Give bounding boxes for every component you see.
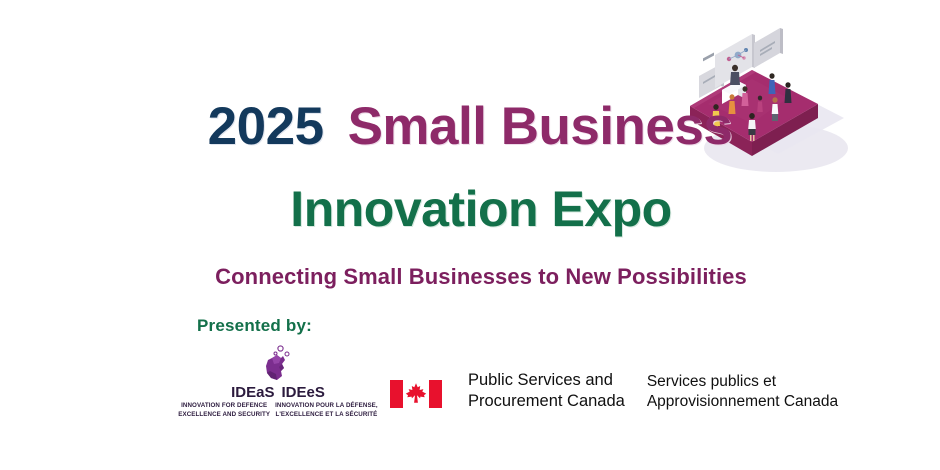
sponsor-logo-row: IDEaS IDEeS INNOVATION FOR DEFENCE EXCEL… xyxy=(178,344,838,420)
canada-flag-wrap xyxy=(390,380,442,408)
ideas-tagline-en: INNOVATION FOR DEFENCE EXCELLENCE AND SE… xyxy=(178,402,270,420)
flag-bar-left xyxy=(390,380,403,408)
department-fr-line1: Services publics et xyxy=(647,372,838,392)
poster-tagline: Connecting Small Businesses to New Possi… xyxy=(0,264,940,290)
event-poster: 2025Small Business Innovation Expo Conne… xyxy=(0,0,940,470)
ideas-wordmark: IDEaS IDEeS xyxy=(231,385,325,400)
department-name-fr: Services publics et Approvisionnement Ca… xyxy=(647,372,838,412)
title-small-business: Small Business xyxy=(348,97,733,156)
presented-by-label: Presented by: xyxy=(197,316,312,336)
title-innovation-expo: Innovation Expo xyxy=(290,181,671,237)
event-year: 2025 xyxy=(208,97,324,156)
ideas-taglines: INNOVATION FOR DEFENCE EXCELLENCE AND SE… xyxy=(178,402,377,420)
department-fr-line2: Approvisionnement Canada xyxy=(647,392,838,412)
ideas-tagline-fr-line2: L'EXCELLENCE ET LA SÉCURITÉ xyxy=(275,411,378,420)
department-en-line1: Public Services and xyxy=(468,370,625,391)
department-en-line2: Procurement Canada xyxy=(468,391,625,412)
ideas-wordmark-en: IDEaS xyxy=(231,385,274,400)
ideas-tagline-fr: INNOVATION POUR LA DÉFENSE, L'EXCELLENCE… xyxy=(275,402,378,420)
ideas-head-lightbulb-icon xyxy=(250,344,306,384)
ideas-logo: IDEaS IDEeS INNOVATION FOR DEFENCE EXCEL… xyxy=(178,344,378,420)
ideas-tagline-en-line1: INNOVATION FOR DEFENCE xyxy=(178,402,270,411)
flag-bar-right xyxy=(429,380,442,408)
ideas-wordmark-fr: IDEeS xyxy=(282,385,325,400)
poster-title-line-1: 2025Small Business xyxy=(0,96,940,157)
maple-leaf-icon xyxy=(403,380,429,408)
canada-flag-icon xyxy=(390,380,442,408)
ideas-tagline-en-line2: EXCELLENCE AND SECURITY xyxy=(178,411,270,420)
department-name-en: Public Services and Procurement Canada xyxy=(468,370,625,412)
ideas-tagline-fr-line1: INNOVATION POUR LA DÉFENSE, xyxy=(275,402,378,411)
poster-title-line-2: Innovation Expo xyxy=(0,180,940,238)
